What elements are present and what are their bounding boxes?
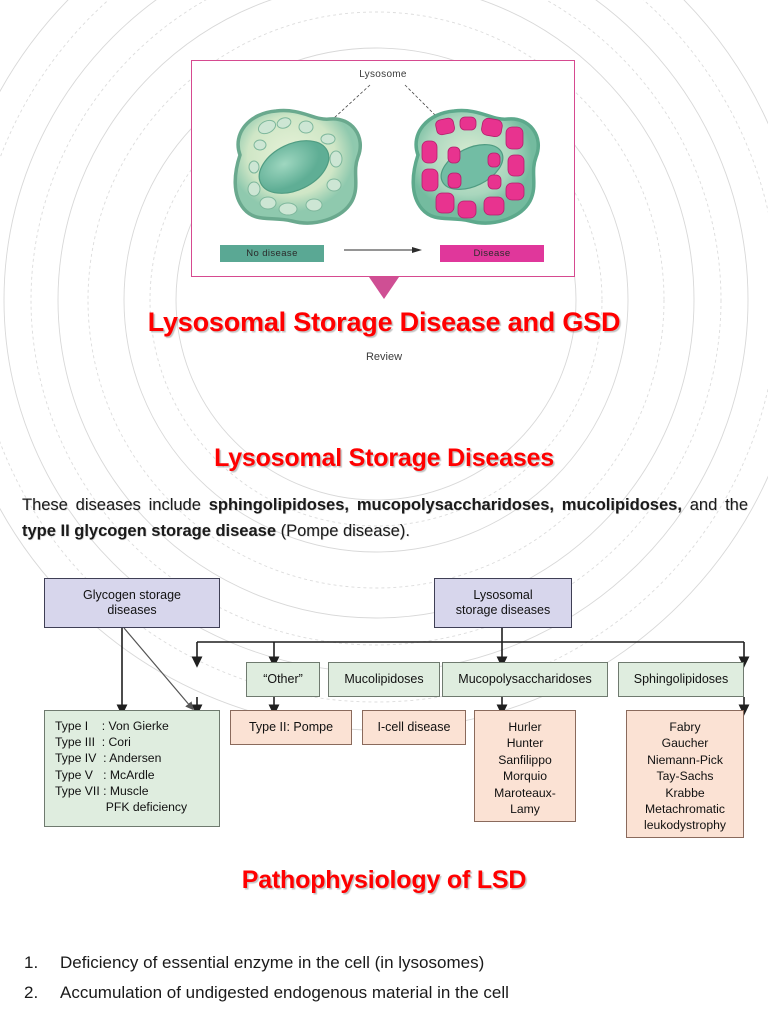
section-heading-pathophysiology: Pathophysiology of LSD [0,866,768,895]
list-item-number: 1. [24,948,60,978]
list-item-label: Deficiency of essential enzyme in the ce… [60,948,744,978]
intro-paragraph: These diseases include sphingolipidoses,… [22,492,748,544]
page-subtitle: Review [0,351,768,363]
intro-bold-3: type II glycogen storage disease [22,522,276,540]
slide-canvas: Lysosome [0,0,768,1024]
intro-bold-1: sphingolipidoses, [209,496,349,514]
lysosome-illustration-frame: Lysosome [191,60,575,277]
list-item: 2. Accumulation of undigested endogenous… [24,978,744,1008]
node-sphingolipidoses: Sphingolipidoses [618,662,744,697]
right-arrow-icon [344,246,422,254]
intro-part-4: (Pompe disease). [276,522,410,540]
intro-part-1: These diseases include [22,496,209,514]
node-other: “Other” [246,662,320,697]
pathophysiology-list: 1. Deficiency of essential enzyme in the… [24,948,744,1008]
node-i-cell-disease: I-cell disease [362,710,466,745]
intro-part-2 [349,496,357,514]
section-heading-lsd: Lysosomal Storage Diseases [0,444,768,473]
intro-part-3: and the [682,496,748,514]
list-item-label: Accumulation of undigested endogenous ma… [60,978,744,1008]
legend-no-disease: No disease [220,245,324,262]
healthy-cell-illustration [210,93,375,238]
node-lysosomal-storage-diseases: Lysosomal storage diseases [434,578,572,628]
diseased-cell-illustration [388,93,553,238]
node-mps-disease-list: Hurler Hunter Sanfilippo Morquio Marotea… [474,710,576,822]
node-gsd-type-list: Type I : Von Gierke Type III : Cori Type… [44,710,220,827]
node-mucolipidoses: Mucolipidoses [328,662,440,697]
list-item: 1. Deficiency of essential enzyme in the… [24,948,744,978]
legend-disease: Disease [440,245,544,262]
list-item-number: 2. [24,978,60,1008]
node-mucopolysaccharidoses: Mucopolysaccharidoses [442,662,608,697]
pink-triangle-pointer [369,277,399,299]
page-title: Lysosomal Storage Disease and GSD [0,307,768,338]
node-type-ii-pompe: Type II: Pompe [230,710,352,745]
node-glycogen-storage-diseases: Glycogen storage diseases [44,578,220,628]
node-sphingolipidoses-disease-list: Fabry Gaucher Niemann-Pick Tay-Sachs Kra… [626,710,744,838]
classification-flowchart: Glycogen storage diseases Lysosomal stor… [22,570,768,860]
intro-bold-2: mucopolysaccharidoses, mucolipidoses, [357,496,682,514]
